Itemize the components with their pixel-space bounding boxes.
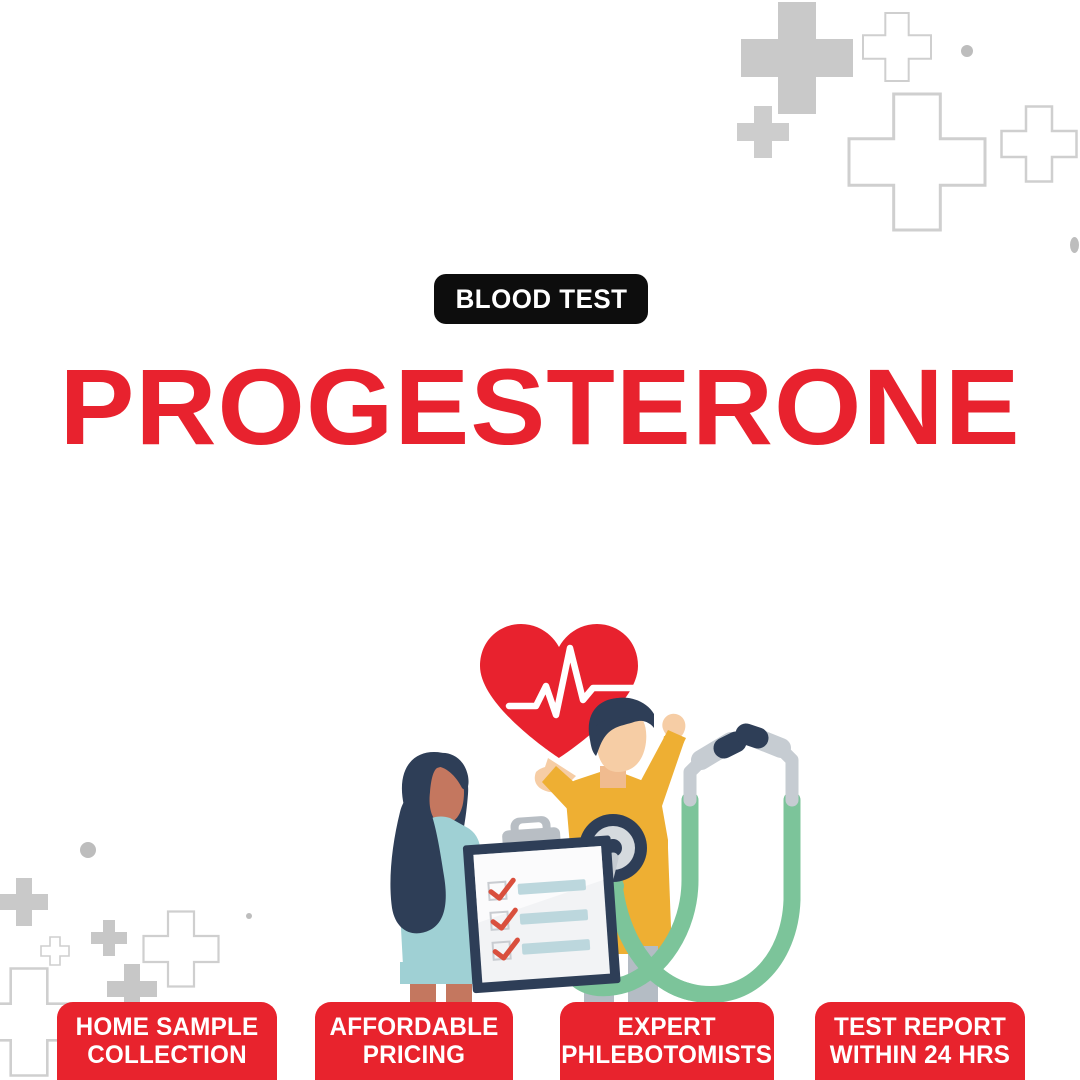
male-left-sleeve	[542, 766, 585, 814]
stethoscope-tube-left	[576, 800, 690, 988]
stethoscope-arm-right	[776, 744, 792, 800]
decor-cross-filled-bottom-1	[0, 878, 48, 926]
female-hair	[396, 752, 469, 909]
clipboard-paper	[473, 846, 610, 983]
stethoscope-tube-right	[613, 800, 792, 995]
cross-bar-vertical	[16, 878, 32, 926]
clipboard	[461, 811, 621, 993]
cross-bar-horizontal	[0, 894, 48, 910]
male-right-hand	[662, 714, 685, 739]
poster-canvas: BLOOD TEST PROGESTERONE HOME SAMPLE COLL…	[0, 0, 1080, 1080]
row-bar-3	[522, 939, 591, 955]
cross-bar-vertical	[778, 2, 815, 114]
male-right-sleeve	[638, 730, 686, 800]
checkbox-2	[490, 912, 508, 930]
page-title: PROGESTERONE	[0, 352, 1080, 462]
decor-cross-outline-top-1	[862, 12, 932, 82]
row-bar-1	[518, 879, 587, 895]
feature-badge-expert-phlebotomists[interactable]: EXPERT PHLEBOTOMISTS	[560, 1002, 774, 1080]
decor-dot-top-1	[961, 45, 973, 57]
clipboard-clip	[502, 827, 562, 857]
male-head	[596, 708, 646, 772]
female-hand	[492, 879, 524, 907]
hero-illustration	[0, 0, 1080, 1080]
decor-cross-outline-bottom-1	[40, 936, 70, 966]
male-left-hand	[542, 758, 576, 790]
stethoscope-arm-left	[690, 756, 706, 800]
checkbox-1	[488, 882, 506, 900]
decor-cross-outline-bottom-2	[142, 910, 220, 988]
male-healthcare-worker	[535, 698, 686, 1018]
cross-bar-vertical	[103, 920, 115, 956]
female-healthcare-worker	[390, 752, 524, 1020]
row-bar-2	[520, 909, 589, 925]
female-face	[430, 766, 464, 824]
decor-cross-outline-top-2	[847, 92, 987, 232]
cross-bar-horizontal	[107, 981, 157, 998]
stethoscope-eartip-left	[724, 742, 736, 748]
feature-badge-label: HOME SAMPLE COLLECTION	[66, 1013, 268, 1069]
cross-bar-horizontal	[737, 123, 789, 140]
feature-badge-label: EXPERT PHLEBOTOMISTS	[562, 1013, 773, 1069]
decor-cross-filled-top-1	[741, 2, 853, 114]
stethoscope-chestpiece	[579, 814, 647, 882]
feature-badge-label: AFFORDABLE PRICING	[324, 1013, 504, 1069]
decor-dot-top-2	[1070, 237, 1079, 253]
male-coat	[565, 736, 684, 952]
stethoscope-eartip-right	[746, 734, 758, 738]
female-scrubs	[400, 817, 481, 984]
decor-cross-outline-top-3	[1000, 105, 1078, 183]
cross-bar-vertical	[754, 106, 771, 158]
female-arm	[450, 862, 504, 902]
male-hair	[589, 698, 654, 756]
check-icon-2	[492, 910, 516, 929]
check-icon-3	[494, 940, 518, 959]
blood-test-eyebrow-badge: BLOOD TEST	[434, 274, 648, 324]
ecg-line	[509, 648, 634, 715]
checkbox-3	[493, 942, 511, 960]
feature-badge-home-sample-collection[interactable]: HOME SAMPLE COLLECTION	[57, 1002, 277, 1080]
blood-test-label: BLOOD TEST	[455, 284, 627, 315]
cross-bar-horizontal	[91, 932, 127, 944]
feature-badge-test-report-24-hrs[interactable]: TEST REPORT WITHIN 24 HRS	[815, 1002, 1025, 1080]
check-icon-1	[490, 880, 514, 899]
cross-bar-horizontal	[741, 39, 853, 76]
feature-badge-affordable-pricing[interactable]: AFFORDABLE PRICING	[315, 1002, 513, 1080]
stethoscope	[576, 734, 792, 995]
clipboard-frame	[463, 835, 621, 993]
decor-dot-bottom-2	[246, 913, 252, 919]
feature-badge-label: TEST REPORT WITHIN 24 HRS	[824, 1013, 1016, 1069]
decor-cross-filled-top-2	[737, 106, 789, 158]
decor-cross-filled-bottom-2	[91, 920, 127, 956]
decor-dot-bottom-1	[80, 842, 96, 858]
heart-icon	[444, 618, 638, 759]
